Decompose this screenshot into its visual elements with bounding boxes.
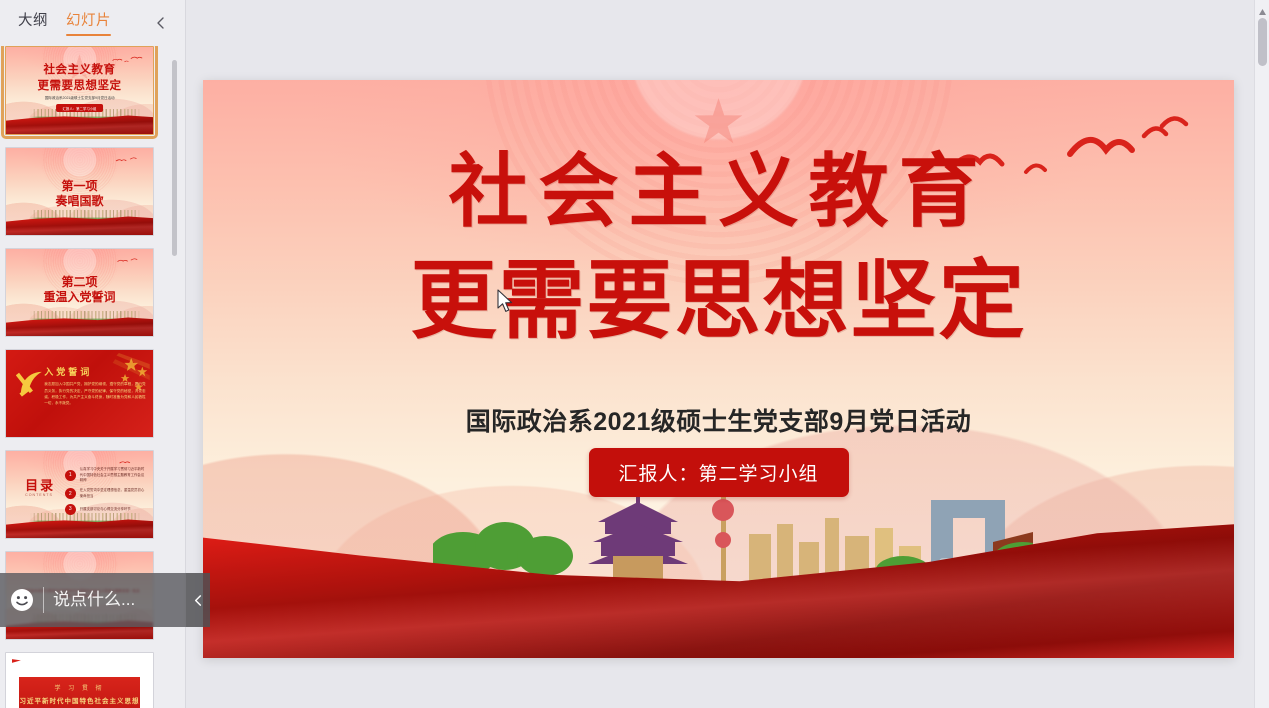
banner-line2: 习近平新时代中国特色社会主义思想 [20, 695, 140, 705]
slide-panel-scrollbar[interactable] [172, 60, 177, 256]
thumb-title-line1: 社会主义教育 [6, 61, 153, 77]
panel-collapse-chevron-left-icon[interactable] [154, 16, 168, 30]
thumb-button: 汇报人：第二学习小组 [56, 104, 104, 112]
slide-thumbnail-5[interactable]: 目录 CONTENTS 1 认真学习中央关于开展学习贯彻习近平新时代中国特色社会… [5, 450, 154, 539]
toc-number: 2 [65, 488, 76, 499]
thumbnail-wrap-7: 学 习 贯 彻 习近平新时代中国特色社会主义思想 主 题 教 育 [5, 652, 165, 708]
slide-title-line1: 社会主义教育 [203, 152, 1234, 232]
current-slide[interactable]: ★ [203, 80, 1234, 658]
tab-slides[interactable]: 幻灯片 [66, 9, 111, 35]
star-icon: ★ [691, 92, 747, 154]
toc-number: 3 [65, 504, 76, 515]
slide-editor-area: ★ [186, 0, 1254, 708]
scroll-thumb[interactable] [1258, 18, 1267, 66]
thumb-toc-subtitle: CONTENTS [25, 493, 53, 497]
thumbnail-wrap-3: 第二项 重温入党誓词 [5, 248, 165, 337]
comment-panel-collapse-handle[interactable] [186, 573, 210, 627]
thumbnail-wrap-1: ★ 社会主义教育 更需要思想坚定 国际政治系2021级硕士生党支部9月党日活动 [5, 46, 165, 135]
banner-box: 学 习 贯 彻 习近平新时代中国特色社会主义思想 主 题 教 育 [19, 677, 140, 708]
slide-title-line2: 更需要思想坚定 [203, 258, 1234, 344]
slide-thumbnail-3[interactable]: 第二项 重温入党誓词 [5, 248, 154, 337]
toc-text: 认真学习中央关于开展学习贯彻习近平新时代中国特色社会主义思想主题教育工作会议精神 [80, 467, 147, 483]
toc-number: 1 [65, 470, 76, 481]
comment-input[interactable] [53, 590, 274, 610]
tab-outline[interactable]: 大纲 [18, 9, 48, 35]
thumb-oath-body: 我志愿加入中国共产党，拥护党的纲领，遵守党的章程，履行党员义务，执行党的决定，严… [44, 381, 145, 406]
thumb-title-line2: 更需要思想坚定 [6, 77, 153, 93]
slide-subtitle: 国际政治系2021级硕士生党支部9月党日活动 [203, 402, 1234, 438]
thumb-line2: 重温入党誓词 [6, 288, 153, 305]
caret-up-icon[interactable] [1258, 4, 1267, 13]
thumbnail-wrap-5: 目录 CONTENTS 1 认真学习中央关于开展学习贯彻习近平新时代中国特色社会… [5, 450, 165, 539]
toc-row: 1 认真学习中央关于开展学习贯彻习近平新时代中国特色社会主义思想主题教育工作会议… [65, 467, 147, 483]
thumb-oath-title: 入党誓词 [44, 365, 92, 378]
toc-text: 开展支部讨论与心得交流分享环节 [80, 507, 131, 512]
thumb-subtitle: 国际政治系2021级硕士生党支部9月党日活动 [19, 96, 140, 101]
thumbnail-wrap-2: 第一项 奏唱国歌 [5, 147, 165, 236]
ppt-viewer-window: 大纲 幻灯片 ★ [0, 0, 1269, 708]
slide-thumbnail-2[interactable]: 第一项 奏唱国歌 [5, 147, 154, 236]
toc-text: 在入党誓词中坚定理想信念，重温党员初心使命担当 [80, 488, 147, 499]
toc-row: 2 在入党誓词中坚定理想信念，重温党员初心使命担当 [65, 488, 147, 499]
thumb-toc-items: 1 认真学习中央关于开展学习贯彻习近平新时代中国特色社会主义思想主题教育工作会议… [65, 465, 147, 517]
main-scrollbar[interactable] [1254, 0, 1269, 708]
comment-divider [43, 587, 44, 613]
birds-icon [109, 155, 144, 169]
slide-presenter-button[interactable]: 汇报人：第二学习小组 [588, 448, 848, 497]
panel-tabs: 大纲 幻灯片 [0, 0, 186, 44]
thumb-toc-title: 目录 [25, 475, 55, 494]
thumb-line2: 奏唱国歌 [6, 192, 153, 209]
slide-thumbnail-4[interactable]: 入党誓词 我志愿加入中国共产党，拥护党的纲领，遵守党的章程，履行党员义务，执行党… [5, 349, 154, 438]
banner-line1: 学 习 贯 彻 [54, 683, 104, 692]
slide-thumbnail-7[interactable]: 学 习 贯 彻 习近平新时代中国特色社会主义思想 主 题 教 育 [5, 652, 154, 708]
thumbnail-wrap-4: 入党誓词 我志愿加入中国共产党，拥护党的纲领，遵守党的章程，履行党员义务，执行党… [5, 349, 165, 438]
toc-row: 3 开展支部讨论与心得交流分享环节 [65, 504, 147, 515]
slide-canvas: ★ [203, 80, 1234, 658]
birds-icon [109, 256, 144, 270]
smiley-icon[interactable] [10, 588, 34, 612]
comment-bar[interactable] [0, 573, 186, 627]
slide-thumbnail-1[interactable]: ★ 社会主义教育 更需要思想坚定 国际政治系2021级硕士生党支部9月党日活动 [5, 46, 154, 135]
